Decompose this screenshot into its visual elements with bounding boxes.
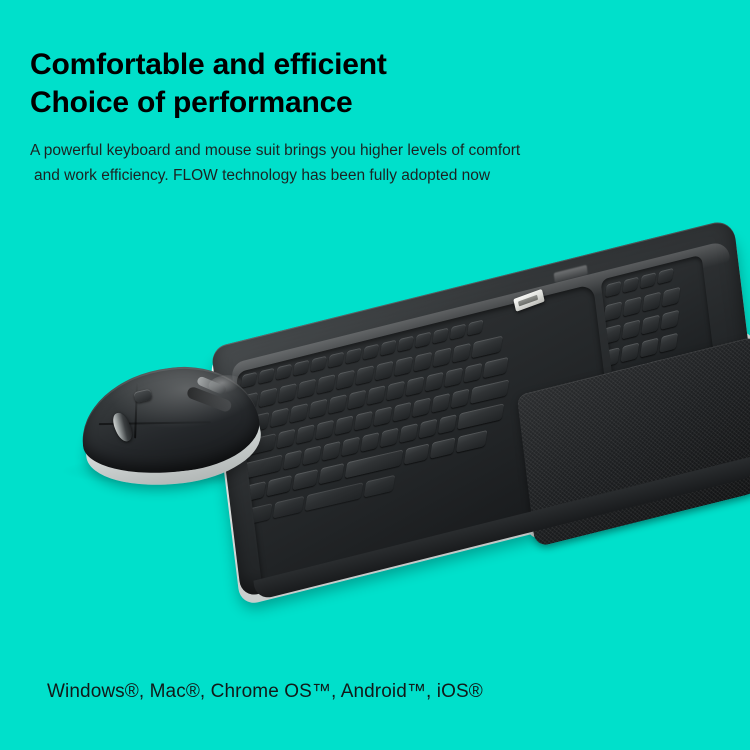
- key: [305, 482, 364, 511]
- promo-banner: Comfortable and efficient Choice of perf…: [0, 0, 750, 750]
- key: [397, 336, 414, 352]
- key: [640, 272, 656, 288]
- key: [451, 388, 470, 408]
- key: [623, 296, 642, 316]
- key: [375, 361, 394, 381]
- key: [297, 379, 316, 399]
- key: [463, 363, 482, 383]
- key: [302, 445, 321, 465]
- headline-line-2: Choice of performance: [30, 84, 720, 122]
- key: [393, 402, 412, 422]
- key: [660, 310, 679, 330]
- key: [657, 268, 673, 284]
- key: [601, 347, 620, 367]
- key: [467, 320, 484, 336]
- product-image: [0, 250, 750, 670]
- key-enter: [470, 379, 509, 404]
- key: [659, 333, 678, 353]
- key: [412, 397, 431, 417]
- key: [415, 332, 432, 348]
- key: [620, 342, 639, 362]
- key: [360, 432, 379, 452]
- key: [328, 394, 347, 414]
- key-alt: [319, 463, 345, 484]
- key: [431, 393, 450, 413]
- key: [336, 370, 355, 390]
- key-ctrl-right: [456, 430, 488, 453]
- key-win: [292, 469, 318, 490]
- key: [471, 335, 503, 358]
- key: [315, 420, 334, 440]
- key: [317, 374, 336, 394]
- key-menu: [430, 437, 456, 458]
- key: [273, 496, 305, 519]
- key: [622, 277, 638, 293]
- key: [293, 360, 310, 376]
- key: [362, 344, 379, 360]
- key: [334, 415, 353, 435]
- key: [662, 287, 681, 307]
- key: [278, 383, 297, 403]
- key: [380, 428, 399, 448]
- key: [641, 315, 660, 335]
- key: [450, 324, 467, 340]
- key: [354, 411, 373, 431]
- key: [345, 348, 362, 364]
- wireless-mouse: [70, 351, 276, 513]
- key: [289, 403, 308, 423]
- key: [309, 399, 328, 419]
- key: [452, 343, 471, 363]
- key: [425, 372, 444, 392]
- subheading-block: A powerful keyboard and mouse suit bring…: [30, 138, 720, 188]
- key: [310, 356, 327, 372]
- key: [341, 436, 360, 456]
- key: [386, 381, 405, 401]
- key: [373, 406, 392, 426]
- key: [622, 319, 641, 339]
- headline-line-1: Comfortable and efficient: [30, 46, 720, 84]
- compatibility-caption: Windows®, Mac®, Chrome OS™, Android™, iO…: [47, 681, 483, 703]
- mouse-dpi-button: [133, 389, 152, 404]
- subheading-line-2: and work efficiency. FLOW technology has…: [30, 163, 720, 188]
- key: [283, 450, 302, 470]
- wireless-keyboard: [201, 197, 750, 662]
- key: [236, 503, 273, 528]
- key: [275, 364, 292, 380]
- headline-block: Comfortable and efficient Choice of perf…: [30, 46, 720, 188]
- key-shift-right: [457, 403, 504, 429]
- key: [418, 419, 437, 439]
- key: [433, 347, 452, 367]
- key: [380, 340, 397, 356]
- key: [347, 390, 366, 410]
- key: [432, 328, 449, 344]
- key-alt-right: [404, 443, 430, 464]
- scroll-wheel: [110, 410, 136, 443]
- key: [276, 429, 295, 449]
- key: [438, 414, 457, 434]
- key: [328, 352, 345, 368]
- key: [603, 301, 622, 321]
- key: [394, 356, 413, 376]
- key: [483, 357, 509, 378]
- subheading-line-1: A powerful keyboard and mouse suit bring…: [30, 138, 720, 163]
- key: [364, 475, 396, 498]
- key: [399, 423, 418, 443]
- key: [355, 365, 374, 385]
- key: [602, 324, 621, 344]
- key: [270, 408, 289, 428]
- key: [605, 281, 621, 297]
- key: [322, 441, 341, 461]
- key: [444, 367, 463, 387]
- key: [405, 376, 424, 396]
- key: [296, 424, 315, 444]
- key: [642, 292, 661, 312]
- keyboard-chassis: [211, 218, 750, 598]
- key: [367, 385, 386, 405]
- key: [413, 352, 432, 372]
- key: [640, 338, 659, 358]
